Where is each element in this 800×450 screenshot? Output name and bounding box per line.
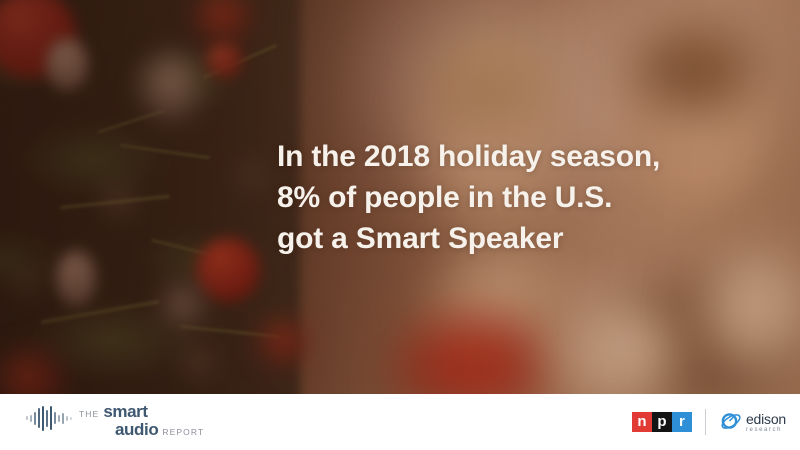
footer-bar: THE smart audio REPORT n p r	[0, 394, 800, 450]
npr-logo: n p r	[632, 412, 692, 432]
edison-atom-icon	[719, 410, 743, 434]
logo-divider	[705, 409, 706, 435]
headline-line-3: got a Smart Speaker	[277, 218, 747, 259]
npr-letter-r: r	[672, 412, 692, 432]
sar-smart-label: smart	[103, 403, 147, 420]
headline: In the 2018 holiday season, 8% of people…	[277, 136, 747, 259]
headline-line-2: 8% of people in the U.S.	[277, 177, 747, 218]
edison-wordmark: edison research	[746, 412, 786, 433]
sar-the-label: THE	[79, 410, 99, 419]
smart-audio-report-wordmark: THE smart audio REPORT	[79, 403, 204, 433]
audio-waveform-icon	[26, 405, 72, 431]
headline-line-1: In the 2018 holiday season,	[277, 136, 747, 177]
sar-report-label: REPORT	[162, 428, 204, 437]
partner-logos: n p r edison research	[632, 394, 786, 450]
edison-research-logo: edison research	[719, 410, 786, 434]
edison-name-label: edison	[746, 412, 786, 426]
sar-audio-label: audio	[115, 421, 158, 438]
slide-canvas: In the 2018 holiday season, 8% of people…	[0, 0, 800, 450]
npr-letter-p: p	[652, 412, 672, 432]
edison-sub-label: research	[746, 427, 786, 433]
npr-letter-n: n	[632, 412, 652, 432]
smart-audio-report-logo: THE smart audio REPORT	[26, 403, 204, 433]
